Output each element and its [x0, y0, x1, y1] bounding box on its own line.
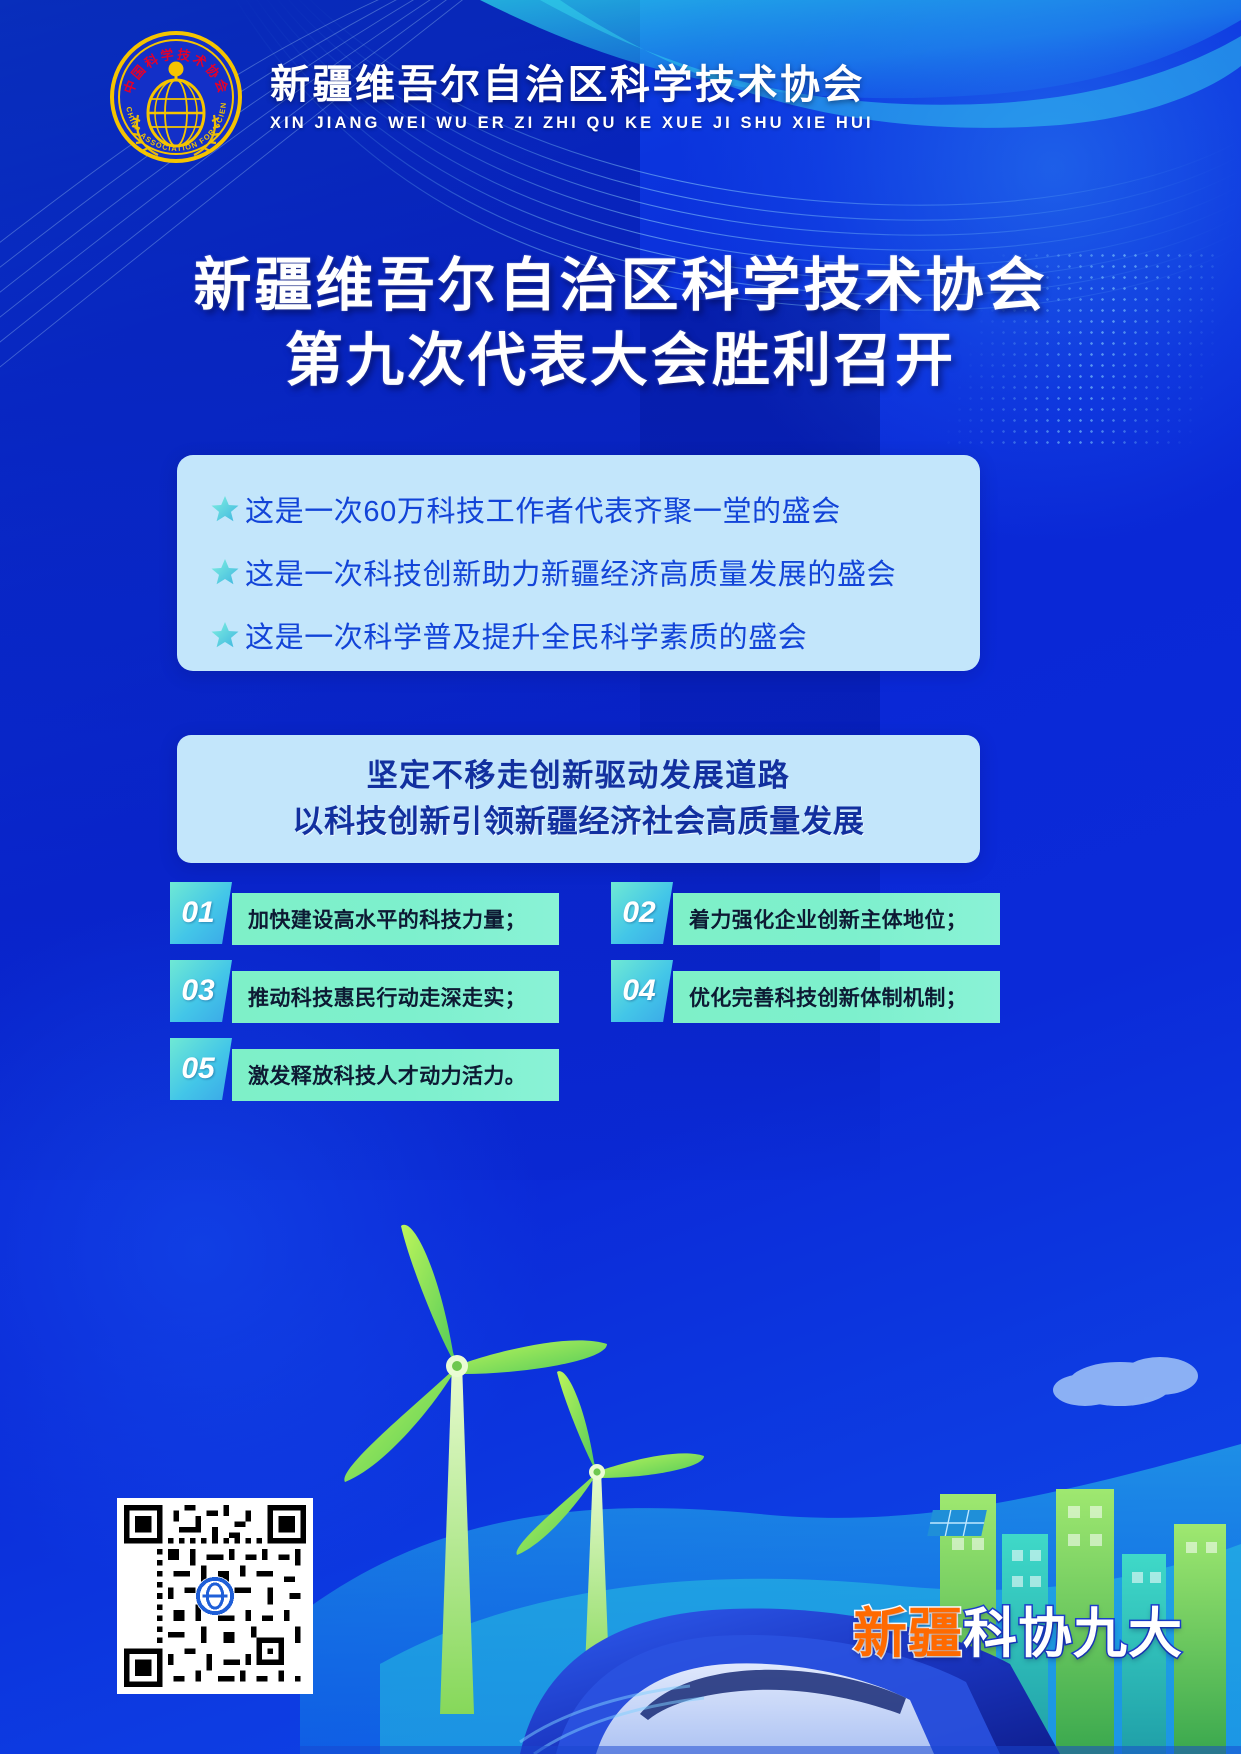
- measure-number: 03: [181, 974, 214, 1008]
- qr-code[interactable]: [117, 1498, 313, 1694]
- brand-mark: 新疆 科协九大: [853, 1589, 1183, 1668]
- measure-text: 推动科技惠民行动走深走实；: [232, 971, 559, 1023]
- measure-number-badge: 02: [611, 882, 673, 944]
- measure-number: 02: [622, 896, 655, 930]
- measure-text: 加快建设高水平的科技力量；: [232, 893, 559, 945]
- slogan-line-1: 坚定不移走创新驱动发展道路: [367, 755, 791, 797]
- cloud-icon: [1053, 1357, 1198, 1406]
- page-title: 新疆维吾尔自治区科学技术协会 第九次代表大会胜利召开: [0, 248, 1241, 399]
- highlight-text: 这是一次科技创新助力新疆经济高质量发展的盛会: [245, 551, 896, 593]
- measure-item-03: 03 推动科技惠民行动走深走实；: [170, 971, 559, 1023]
- highlights-panel: 这是一次60万科技工作者代表齐聚一堂的盛会 这是一次科技创新助力新疆经济高质量发…: [177, 455, 980, 671]
- measure-text: 激发释放科技人才动力活力。: [232, 1049, 559, 1101]
- measures-section: 01 加快建设高水平的科技力量； 02 着力强化企业创新主体地位； 03 推动科…: [170, 893, 1000, 1101]
- measure-item-01: 01 加快建设高水平的科技力量；: [170, 893, 559, 945]
- cast-emblem-icon: 中国科学技术协会 CHINA ASSOCIATION FOR SCIENCE A…: [108, 29, 244, 165]
- star-icon: [205, 620, 245, 650]
- measure-text: 优化完善科技创新体制机制；: [673, 971, 1000, 1023]
- measure-number: 01: [181, 896, 214, 930]
- slogan-panel: 坚定不移走创新驱动发展道路 以科技创新引领新疆经济社会高质量发展: [177, 735, 980, 863]
- measure-number: 05: [181, 1052, 214, 1086]
- highlight-text: 这是一次60万科技工作者代表齐聚一堂的盛会: [245, 488, 841, 530]
- highlight-text: 这是一次科学普及提升全民科学素质的盛会: [245, 614, 807, 656]
- measure-text: 着力强化企业创新主体地位；: [673, 893, 1000, 945]
- measure-item-04: 04 优化完善科技创新体制机制；: [611, 971, 1000, 1023]
- measure-number-badge: 01: [170, 882, 232, 944]
- poster-root: 中国科学技术协会 CHINA ASSOCIATION FOR SCIENCE A…: [0, 0, 1241, 1754]
- highlight-item: 这是一次科技创新助力新疆经济高质量发展的盛会: [205, 544, 980, 600]
- brand-text-orange: 新疆: [853, 1589, 963, 1668]
- highlight-item: 这是一次60万科技工作者代表齐聚一堂的盛会: [205, 481, 980, 537]
- brand-text-white: 科协九大: [963, 1589, 1183, 1668]
- star-icon: [205, 557, 245, 587]
- measure-item-05: 05 激发释放科技人才动力活力。: [170, 1049, 559, 1101]
- measure-number-badge: 05: [170, 1038, 232, 1100]
- qr-code-icon: [124, 1505, 306, 1687]
- org-name-chinese: 新疆维吾尔自治区科学技术协会: [270, 63, 874, 108]
- title-line-2: 第九次代表大会胜利召开: [0, 323, 1241, 398]
- slogan-line-2: 以科技创新引领新疆经济社会高质量发展: [292, 801, 864, 843]
- org-name-pinyin: XIN JIANG WEI WU ER ZI ZHI QU KE XUE JI …: [270, 114, 874, 133]
- star-icon: [205, 494, 245, 524]
- header: 中国科学技术协会 CHINA ASSOCIATION FOR SCIENCE A…: [0, 0, 1241, 190]
- highlight-item: 这是一次科学普及提升全民科学素质的盛会: [205, 607, 980, 663]
- solar-panel-icon: [927, 1510, 987, 1536]
- title-line-1: 新疆维吾尔自治区科学技术协会: [0, 248, 1241, 323]
- measure-number-badge: 03: [170, 960, 232, 1022]
- organization-names: 新疆维吾尔自治区科学技术协会 XIN JIANG WEI WU ER ZI ZH…: [270, 63, 874, 134]
- measure-number: 04: [622, 974, 655, 1008]
- measure-number-badge: 04: [611, 960, 673, 1022]
- measure-item-02: 02 着力强化企业创新主体地位；: [611, 893, 1000, 945]
